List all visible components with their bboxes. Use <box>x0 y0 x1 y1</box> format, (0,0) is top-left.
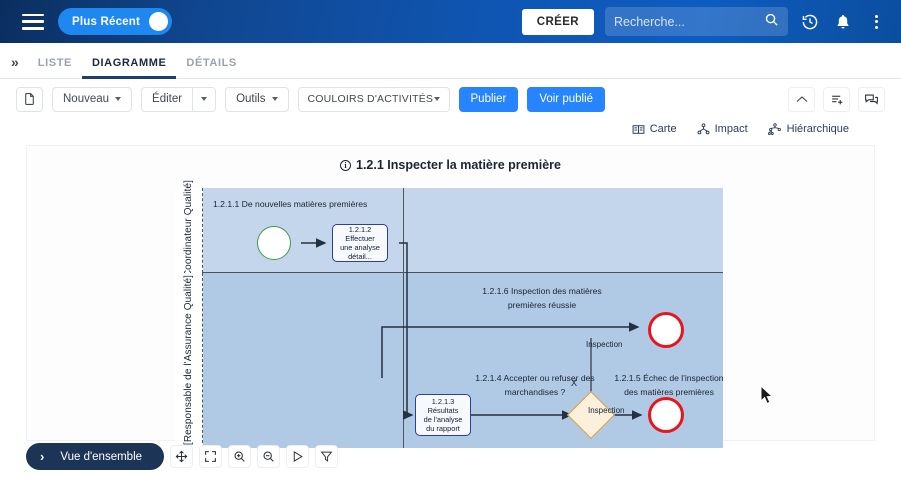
task-label: 1.2.1.3 Résultats de l'analyse du rappor… <box>424 397 463 434</box>
add-to-list-icon[interactable] <box>823 87 850 112</box>
flow-label-inspection-2: Inspection <box>586 340 622 349</box>
activity-colors-select[interactable]: COULOIRS D'ACTIVITÉS <box>298 87 450 112</box>
node-label-start: 1.2.1.1 De nouvelles matières premières <box>213 196 393 212</box>
tab-liste[interactable]: LISTE <box>28 57 82 79</box>
hamburger-icon[interactable] <box>22 14 44 30</box>
hierarchy-icon <box>768 123 782 135</box>
view-link-label: Hiérarchique <box>787 123 849 135</box>
start-event-node[interactable] <box>257 226 291 260</box>
comments-icon[interactable] <box>858 87 885 112</box>
flow-label-inspection-1: Inspection <box>588 406 624 415</box>
tab-details[interactable]: DÉTAILS <box>176 57 246 79</box>
kebab-menu-icon[interactable] <box>865 11 887 33</box>
gateway-marker: X <box>571 378 577 388</box>
view-link-label: Carte <box>650 123 677 135</box>
view-links: Carte Impact Hiérarchique <box>0 119 901 141</box>
chevron-down-icon <box>272 97 278 101</box>
bottom-toolbar: › Vue d'ensemble <box>26 443 338 470</box>
editor-toolbar: Nouveau Éditer Outils COULOIRS D'ACTIVIT… <box>0 79 901 119</box>
end-event-node-success[interactable] <box>648 312 684 348</box>
bell-icon[interactable] <box>832 11 854 33</box>
end-event-node-failure[interactable] <box>648 397 684 433</box>
outils-dropdown[interactable]: Outils <box>225 87 288 112</box>
node-label-end2: 1.2.1.6 Inspection des matières première… <box>477 284 607 312</box>
view-link-hierarchique[interactable]: Hiérarchique <box>768 123 849 135</box>
history-icon[interactable] <box>799 11 821 33</box>
info-icon: i <box>340 160 351 171</box>
chevron-down-icon <box>434 97 440 101</box>
editer-button[interactable]: Éditer <box>141 87 192 112</box>
node-label-end1: 1.2.1.5 Échec de l'inspection des matièr… <box>610 371 728 399</box>
chevron-down-icon <box>201 97 207 101</box>
chevron-down-icon <box>115 97 121 101</box>
task-label: 1.2.1.2 Effectuer une analyse détail... <box>340 225 380 262</box>
toggle-knob[interactable] <box>149 12 168 31</box>
task-node-1212[interactable]: 1.2.1.2 Effectuer une analyse détail... <box>332 224 388 262</box>
view-link-carte[interactable]: Carte <box>632 123 677 135</box>
impact-icon <box>697 123 710 135</box>
editer-dropdown-toggle[interactable] <box>192 87 216 112</box>
plus-recent-toggle[interactable]: Plus Récent <box>58 8 172 35</box>
nouveau-label: Nouveau <box>63 93 109 105</box>
zoom-in-icon[interactable] <box>228 445 251 468</box>
filter-icon[interactable] <box>315 445 338 468</box>
search-icon[interactable] <box>764 12 779 32</box>
create-button[interactable]: CRÉER <box>522 9 594 35</box>
plus-recent-label: Plus Récent <box>72 16 140 28</box>
chevron-up-icon[interactable] <box>788 87 815 112</box>
voir-publie-button[interactable]: Voir publié <box>527 87 605 112</box>
overview-button[interactable]: › Vue d'ensemble <box>26 443 164 470</box>
tab-bar: » LISTE DIAGRAMME DÉTAILS <box>0 43 901 79</box>
publier-button[interactable]: Publier <box>459 87 519 112</box>
app-header: Plus Récent CRÉER Recherche... <box>0 0 901 43</box>
document-icon[interactable] <box>16 87 43 112</box>
view-link-label: Impact <box>715 123 748 135</box>
play-icon[interactable] <box>286 445 309 468</box>
header-actions: CRÉER Recherche... <box>522 7 887 36</box>
outils-label: Outils <box>236 93 265 105</box>
toolbar-right-actions <box>788 87 885 112</box>
diagram-title-text: 1.2.1 Inspecter la matière première <box>356 158 561 172</box>
view-link-impact[interactable]: Impact <box>697 123 748 135</box>
fullscreen-icon[interactable] <box>199 445 222 468</box>
expand-sidebar-icon[interactable]: » <box>6 54 28 78</box>
tab-diagramme[interactable]: DIAGRAMME <box>82 57 176 79</box>
mouse-cursor <box>760 385 774 410</box>
zoom-out-icon[interactable] <box>257 445 280 468</box>
activity-colors-value: COULOIRS D'ACTIVITÉS <box>308 93 434 105</box>
pan-icon[interactable] <box>170 445 193 468</box>
chevron-right-icon: › <box>40 449 44 464</box>
bpmn-pool[interactable]: [Coordinateur Qualité] [Responsable de l… <box>175 188 723 448</box>
search-placeholder: Recherche... <box>614 15 764 29</box>
overview-label: Vue d'ensemble <box>60 451 142 463</box>
map-icon <box>632 124 645 135</box>
nouveau-dropdown[interactable]: Nouveau <box>52 87 132 112</box>
diagram-title: i 1.2.1 Inspecter la matière première <box>27 146 874 172</box>
task-node-1213[interactable]: 1.2.1.3 Résultats de l'analyse du rappor… <box>415 394 471 436</box>
editer-split-button[interactable]: Éditer <box>141 87 216 112</box>
search-input[interactable]: Recherche... <box>605 7 788 36</box>
